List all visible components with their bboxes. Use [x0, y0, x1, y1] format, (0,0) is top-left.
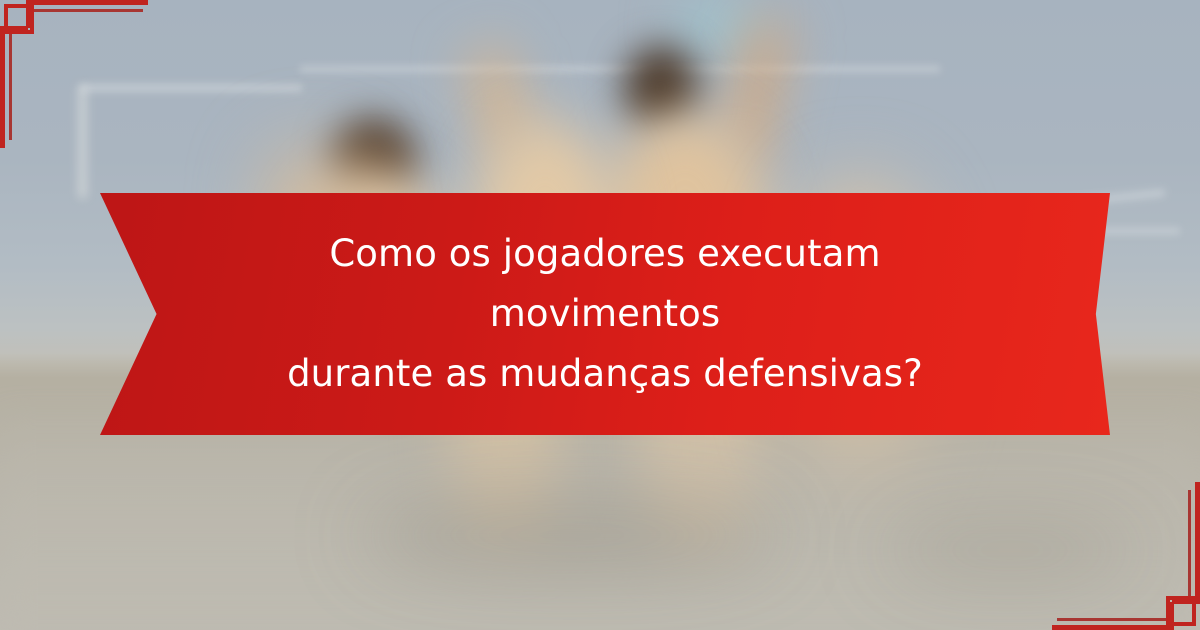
headline-line-1: Como os jogadores executam movimentos [225, 224, 985, 344]
share-card: Como os jogadores executam movimentos du… [0, 0, 1200, 630]
corner-rule-top-thick [26, 0, 148, 5]
corner-rule-bottom-thin [1057, 618, 1166, 621]
corner-rule-left-thick [0, 26, 5, 148]
corner-elbow-horizontal [1172, 599, 1200, 604]
corner-rule-right-thin [1188, 490, 1191, 596]
net-line-horizon [300, 66, 940, 72]
corner-elbow-vertical [1169, 602, 1174, 630]
corner-elbow-horizontal [0, 26, 28, 31]
corner-elbow-vertical [26, 0, 31, 28]
corner-rule-bottom-thick [1052, 625, 1174, 630]
corner-rule-top-thin [34, 9, 143, 12]
sand-shadow-center [360, 500, 780, 570]
player-ball [675, 0, 753, 56]
headline-banner: Como os jogadores executam movimentos du… [100, 193, 1110, 435]
corner-rule-right-thick [1195, 482, 1200, 604]
corner-frame-top-left [0, 0, 200, 200]
corner-frame-bottom-right [1000, 430, 1200, 630]
headline-line-2: durante as mudanças defensivas? [225, 344, 985, 404]
headline-text: Como os jogadores executam movimentos du… [165, 224, 1045, 404]
corner-rule-left-thin [9, 34, 12, 140]
